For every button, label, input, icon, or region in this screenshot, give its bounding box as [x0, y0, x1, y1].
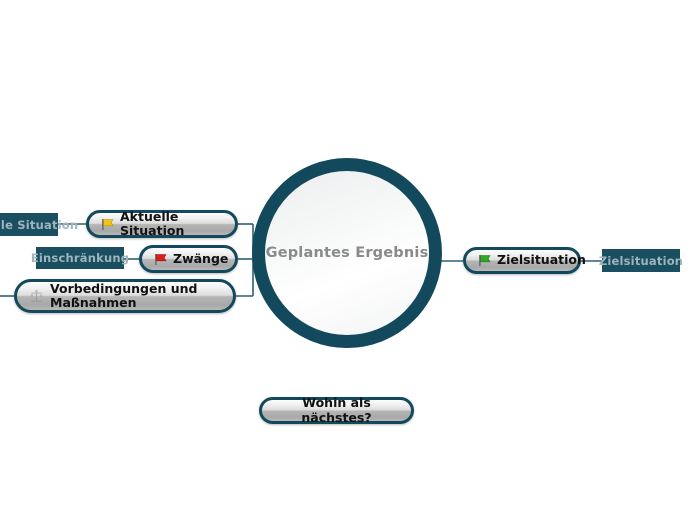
node-aktuelle-situation[interactable]: Aktuelle Situation	[86, 210, 238, 238]
flag-icon-yellow	[101, 218, 114, 231]
tag-einschraenkung[interactable]: Einschränkung	[36, 247, 124, 269]
node-label: Zwänge	[173, 252, 228, 266]
tag-label: Aktuelle Situation	[0, 218, 78, 232]
center-node[interactable]: Geplantes Ergebnis	[252, 158, 442, 348]
tag-label: Einschränkung	[31, 251, 129, 265]
node-wohin-als-naechstes[interactable]: Wohin als nächstes?	[259, 397, 414, 424]
node-label: Vorbedingungen und Maßnahmen	[50, 282, 197, 311]
flag-icon-red	[154, 253, 167, 266]
mindmap-canvas: Geplantes Ergebnis Aktuelle Situation Ei…	[0, 0, 697, 520]
scales-icon	[29, 289, 44, 304]
node-label: Aktuelle Situation	[120, 210, 223, 239]
node-label: Zielsituation	[497, 253, 586, 267]
node-label: Wohin als nächstes?	[274, 396, 399, 425]
flag-icon-green	[478, 254, 491, 267]
center-node-label: Geplantes Ergebnis	[265, 245, 429, 261]
tag-zielsituation[interactable]: Zielsituation	[602, 249, 680, 272]
node-zielsituation[interactable]: Zielsituation	[463, 247, 581, 274]
tag-aktuelle-situation[interactable]: Aktuelle Situation	[0, 213, 58, 236]
node-zwaenge[interactable]: Zwänge	[139, 245, 238, 273]
node-vorbedingungen[interactable]: Vorbedingungen und Maßnahmen	[14, 279, 236, 313]
tag-label: Zielsituation	[599, 254, 683, 268]
